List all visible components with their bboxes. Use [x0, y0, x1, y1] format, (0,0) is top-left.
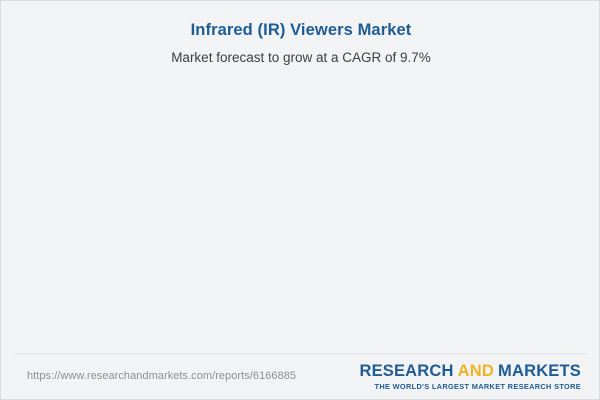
- logo-word-and: AND: [458, 362, 494, 380]
- chart-plot-area: USD 1.56 Billion 2026 USD 2.26 Billion: [1, 1, 600, 346]
- logo-word-markets: MARKETS: [498, 362, 581, 380]
- source-url-link[interactable]: https://www.researchandmarkets.com/repor…: [27, 370, 296, 382]
- logo-tagline: THE WORLD'S LARGEST MARKET RESEARCH STOR…: [359, 382, 581, 391]
- infographic-card: Infrared (IR) Viewers Market Market fore…: [0, 0, 600, 400]
- logo-wordmark: RESEARCHANDMARKETS: [359, 362, 581, 381]
- footer: https://www.researchandmarkets.com/repor…: [1, 354, 600, 400]
- logo-word-research: RESEARCH: [359, 362, 453, 380]
- research-and-markets-logo[interactable]: RESEARCHANDMARKETS THE WORLD'S LARGEST M…: [359, 362, 581, 391]
